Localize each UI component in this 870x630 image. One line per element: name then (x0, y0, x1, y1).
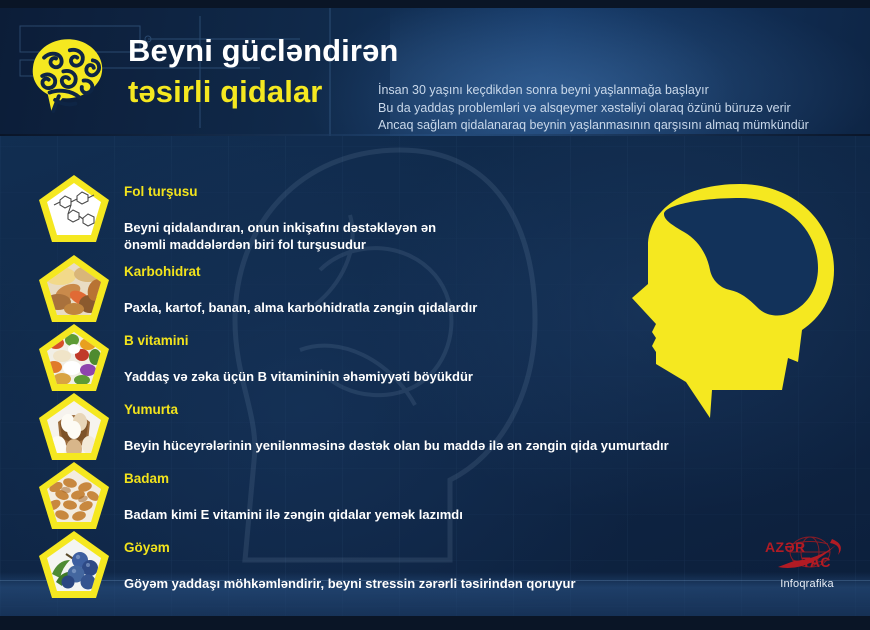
azertac-logo-mark: AZƏR TAC (758, 533, 856, 577)
description-line: Paxla, kartof, banan, alma karbohidratla… (124, 299, 477, 316)
molecule-structure-icon (38, 174, 110, 244)
list-item-text: B vitamini Yaddaş və zəka üçün B vitamin… (124, 332, 473, 385)
list-item-text: Karbohidrat Paxla, kartof, banan, alma k… (124, 263, 477, 316)
frame-top-edge (0, 0, 870, 8)
list-item-description: Beyin hüceyrələrinin yenilənməsinə dəstə… (124, 437, 669, 454)
bread-potato-food-icon (38, 254, 110, 324)
list-item-description: Göyəm yaddaşı möhkəmləndirir, beyni stre… (124, 575, 576, 592)
svg-text:AZƏR: AZƏR (765, 539, 806, 555)
frame-bottom-edge (0, 616, 870, 630)
title-line-1: Beyni gücləndirən (128, 32, 398, 70)
list-item-title: B vitamini (124, 332, 473, 349)
mixed-vegetables-icon (38, 323, 110, 393)
list-item-title: Yumurta (124, 401, 669, 418)
list-item-description: Paxla, kartof, banan, alma karbohidratla… (124, 299, 477, 316)
title-line-2: təsirli qidalar (128, 73, 398, 111)
subtitle-block: İnsan 30 yaşını keçdikdən sonra beyni ya… (378, 82, 870, 135)
list-item-text: Fol turşusu Beyni qidalandıran, onun ink… (124, 183, 436, 253)
title-block: Beyni gücləndirən təsirli qidalar (128, 32, 398, 111)
description-line: Göyəm yaddaşı möhkəmləndirir, beyni stre… (124, 575, 576, 592)
azertac-logo[interactable]: AZƏR TAC Infoqrafika (758, 533, 856, 599)
description-line: önəmli maddələrdən biri fol turşusudur (124, 236, 436, 253)
list-item-text: Badam Badam kimi E vitamini ilə zəngin q… (124, 470, 463, 523)
description-line: Badam kimi E vitamini ilə zəngin qidalar… (124, 506, 463, 523)
list-item-text: Göyəm Göyəm yaddaşı möhkəmləndirir, beyn… (124, 539, 576, 592)
infographic-poster: Beyni gücləndirən təsirli qidalar İnsan … (0, 0, 870, 630)
svg-text:TAC: TAC (802, 554, 831, 570)
list-item-text: Yumurta Beyin hüceyrələrinin yenilənməsi… (124, 401, 669, 454)
list-item-title: Badam (124, 470, 463, 487)
eggs-basket-icon (38, 392, 110, 462)
list-item-title: Göyəm (124, 539, 576, 556)
brain-icon (22, 30, 114, 122)
head-profile-brain-icon (612, 176, 862, 426)
subtitle-line-2: Bu da yaddaş problemləri və alsqeymer xə… (378, 100, 870, 118)
description-line: Beyni qidalandıran, onun inkişafını dəst… (124, 219, 436, 236)
description-line: Beyin hüceyrələrinin yenilənməsinə dəstə… (124, 437, 669, 454)
subtitle-line-1: İnsan 30 yaşını keçdikdən sonra beyni ya… (378, 82, 870, 100)
description-line: Yaddaş və zəka üçün B vitamininin əhəmiy… (124, 368, 473, 385)
list-item-description: Badam kimi E vitamini ilə zəngin qidalar… (124, 506, 463, 523)
list-item-title: Fol turşusu (124, 183, 436, 200)
almonds-icon (38, 461, 110, 531)
list-item-title: Karbohidrat (124, 263, 477, 280)
header-band: Beyni gücləndirən təsirli qidalar İnsan … (0, 8, 870, 136)
list-item-description: Yaddaş və zəka üçün B vitamininin əhəmiy… (124, 368, 473, 385)
blueberries-icon (38, 530, 110, 600)
subtitle-line-3: Ancaq sağlam qidalanaraq beynin yaşlanma… (378, 117, 870, 135)
logo-caption: Infoqrafika (758, 578, 856, 591)
list-item-description: Beyni qidalandıran, onun inkişafını dəst… (124, 219, 436, 253)
